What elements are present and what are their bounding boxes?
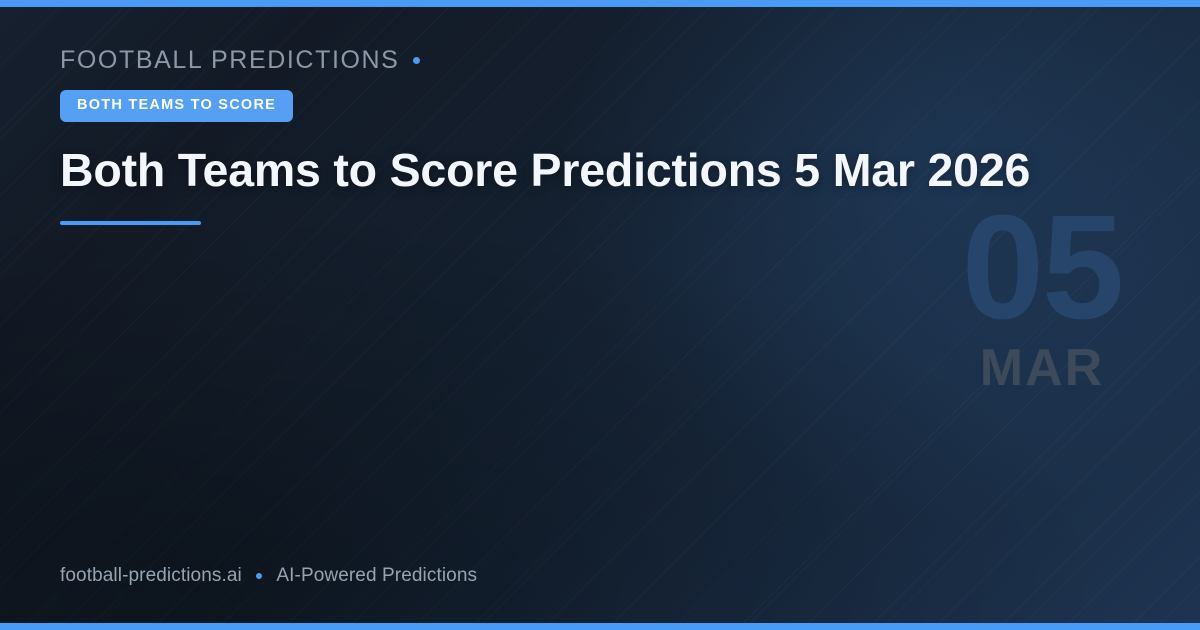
- bottom-accent-bar: [0, 623, 1200, 630]
- page-title: Both Teams to Score Predictions 5 Mar 20…: [60, 144, 1070, 196]
- og-share-card: 05 MAR FOOTBALL PREDICTIONS BOTH TEAMS T…: [0, 0, 1200, 630]
- bullet-dot-icon: [256, 573, 263, 580]
- category-badge: BOTH TEAMS TO SCORE: [60, 90, 293, 122]
- date-month: MAR: [942, 342, 1142, 394]
- date-day: 05: [942, 206, 1142, 330]
- title-accent-rule: [60, 221, 201, 225]
- card-content: FOOTBALL PREDICTIONS BOTH TEAMS TO SCORE…: [60, 0, 1100, 225]
- top-accent-bar: [0, 0, 1200, 7]
- date-badge: 05 MAR: [942, 206, 1142, 394]
- eyebrow: FOOTBALL PREDICTIONS: [60, 45, 1100, 75]
- eyebrow-label: FOOTBALL PREDICTIONS: [60, 46, 399, 75]
- footer-site-name: football-predictions.ai: [60, 565, 242, 587]
- footer: football-predictions.ai AI-Powered Predi…: [60, 565, 477, 587]
- bullet-dot-icon: [413, 57, 420, 64]
- footer-tagline: AI-Powered Predictions: [276, 565, 477, 587]
